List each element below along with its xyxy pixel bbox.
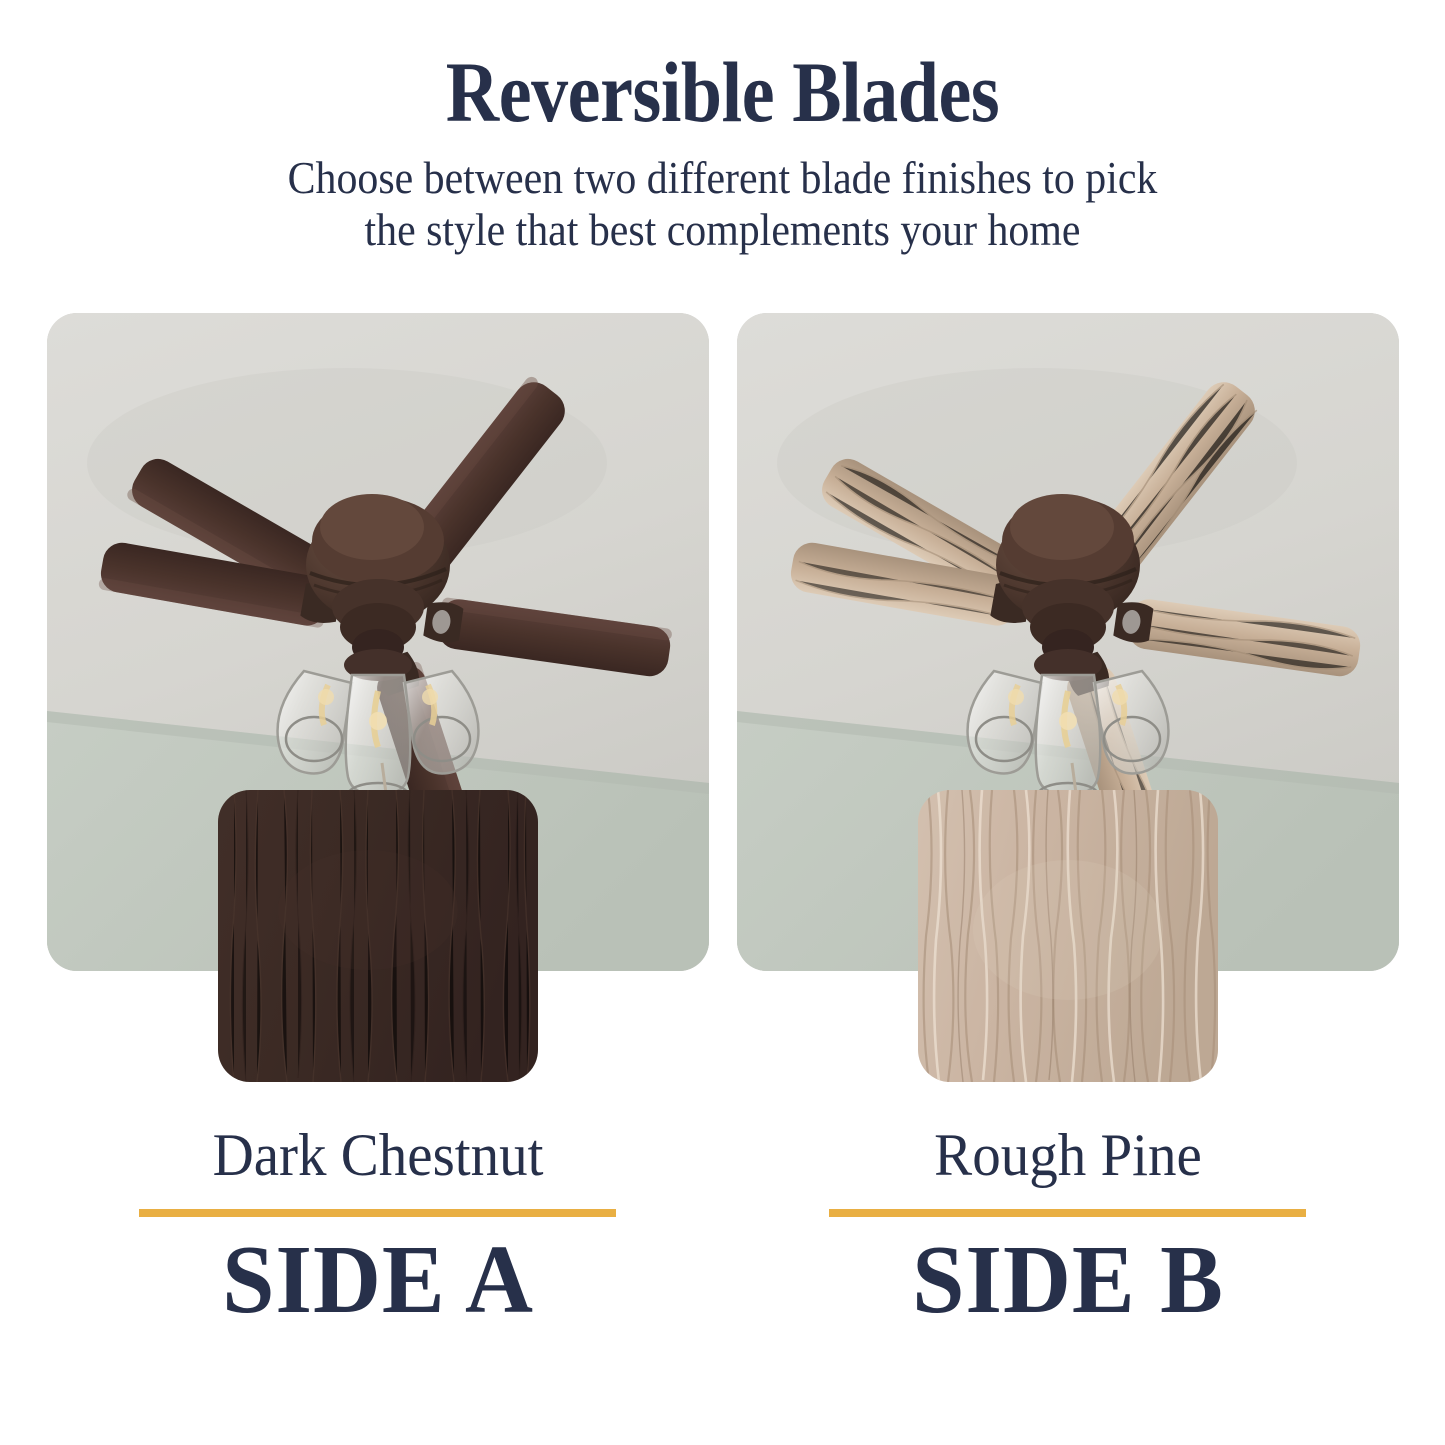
- page-subtitle: Choose between two different blade finis…: [51, 152, 1395, 256]
- page-title: Reversible Blades: [101, 52, 1344, 134]
- side-label-b: SIDE B: [746, 1231, 1388, 1328]
- finish-name-side-a: Dark Chestnut: [63, 1125, 692, 1185]
- column-side-a: [47, 313, 709, 1093]
- subtitle-line-2: the style that best complements your hom…: [51, 204, 1395, 256]
- header: Reversible Blades Choose between two dif…: [0, 0, 1445, 256]
- rough-pine-swatch: [918, 790, 1218, 1082]
- side-label-a: SIDE A: [56, 1231, 698, 1328]
- subtitle-line-1: Choose between two different blade finis…: [51, 152, 1395, 204]
- finish-name-side-b: Rough Pine: [753, 1125, 1382, 1185]
- caption-side-b: Rough Pine SIDE B: [737, 1125, 1399, 1385]
- gold-divider-side-b: [829, 1209, 1306, 1217]
- gold-divider-side-a: [139, 1209, 616, 1217]
- column-side-b: [737, 313, 1399, 1093]
- comparison-columns: [0, 313, 1445, 1093]
- caption-side-a: Dark Chestnut SIDE A: [47, 1125, 709, 1385]
- captions-row: Dark Chestnut SIDE A Rough Pine SIDE B: [0, 1125, 1445, 1385]
- dark-chestnut-swatch: [218, 790, 538, 1082]
